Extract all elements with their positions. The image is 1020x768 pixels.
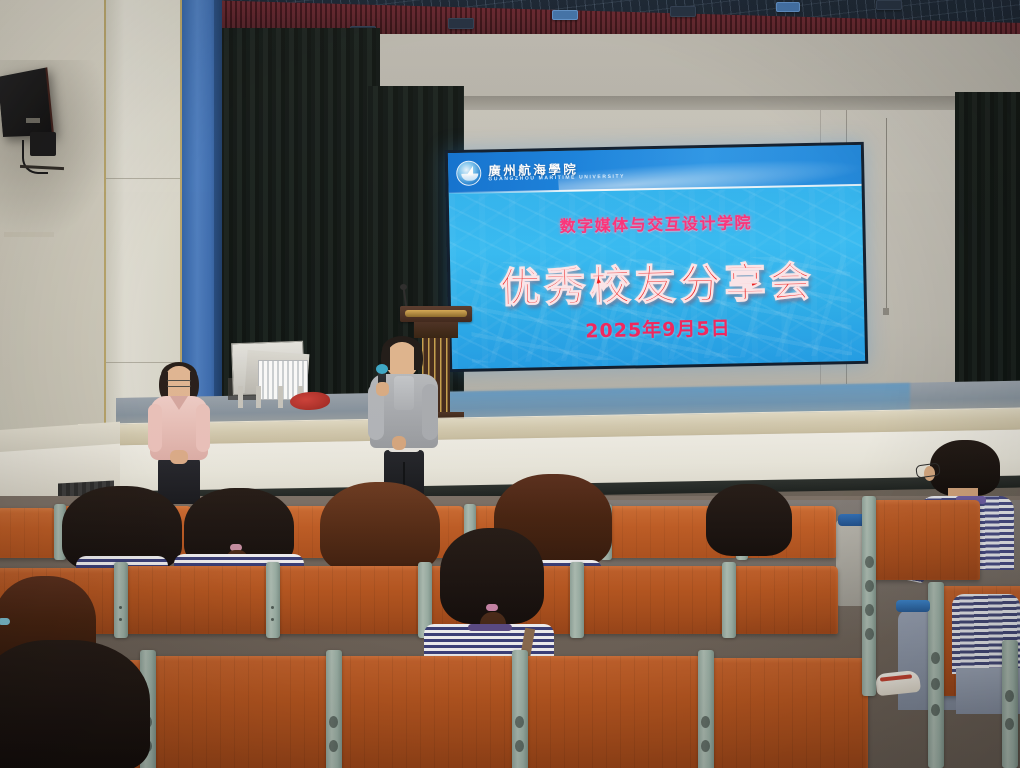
seat-frame-post [862,496,876,696]
shirt-collar [468,624,512,631]
right-arm [422,384,438,440]
glasses-icon [166,380,192,387]
podium-microphone-icon [400,284,407,290]
seat[interactable] [708,658,868,768]
right-arm [196,404,210,452]
auditorium-photo: 廣州航海學院 GUANGZHOU MARITIME UNIVERSITY 数字媒… [0,0,1020,768]
seat-frame-post [512,650,528,768]
seat-frame-post [114,562,128,638]
seat[interactable] [580,566,726,634]
slide-title: 优秀校友分享会 [450,247,864,315]
seat[interactable] [732,566,838,634]
seat[interactable] [276,566,422,634]
aisle-seat-cushion-2[interactable] [896,600,930,612]
hanging-wire-anchor [883,308,889,315]
hair-tie [0,618,10,625]
student-row1-far-right [706,484,792,554]
speaker-badge [26,118,40,123]
stage-light-3 [552,10,578,20]
wall-trim [4,232,54,237]
seat[interactable] [870,500,980,580]
student-row1-left [62,486,182,566]
seat[interactable] [336,656,516,768]
male-sneaker [875,670,921,696]
woman-pink-top [148,366,210,502]
podium-gold-trim [405,310,467,317]
slide-canvas: 廣州航海學院 GUANGZHOU MARITIME UNIVERSITY 数字媒… [448,145,865,369]
woman-speaker-microphone [370,338,438,498]
seat-frame-post [722,562,736,638]
seat-frame-post [326,650,342,768]
resting-hand [392,436,406,450]
seat-frame-post [1002,640,1018,768]
hair [0,640,150,768]
cardigan-front [394,376,414,410]
seat-frame-post [928,582,944,768]
seat[interactable] [124,566,270,634]
stage-light-6 [876,0,902,10]
hanging-wire [886,118,887,310]
logo-wave-shape [461,174,478,181]
led-presentation-screen[interactable]: 廣州航海學院 GUANGZHOU MARITIME UNIVERSITY 数字媒… [445,142,868,372]
stage-light-5 [776,2,800,12]
hair-scrunchie [486,604,498,611]
hair-right [414,346,423,370]
left-arm [148,404,162,452]
clasped-hands [170,450,188,464]
screen-bezel: 廣州航海學院 GUANGZHOU MARITIME UNIVERSITY 数字媒… [445,142,868,372]
seat[interactable] [0,508,56,558]
stage-light-4 [670,6,696,17]
seat[interactable] [150,656,330,768]
seat[interactable] [522,656,702,768]
seat-frame-post [698,650,714,768]
stage-light-2 [448,18,474,29]
microphone-head-icon [376,364,388,374]
seat-frame-post [570,562,584,638]
podium-neck [414,322,458,338]
seat-frame-post [266,562,280,638]
hair [706,484,792,556]
wall-mounted-speaker [0,67,54,137]
student-foreground-edge [0,640,150,768]
hand-holding-microphone [376,382,389,396]
